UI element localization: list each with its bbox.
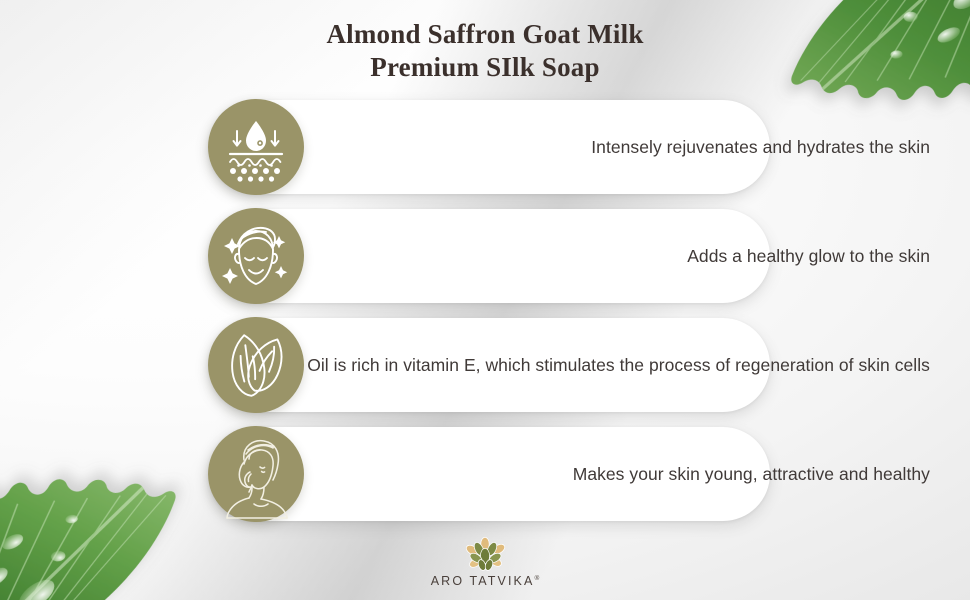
woman-portrait-icon (208, 426, 304, 522)
trademark-symbol: ® (534, 575, 539, 582)
benefit-badge (208, 100, 308, 194)
hydration-droplet-icon (208, 99, 304, 195)
page-title-line-1: Almond Saffron Goat Milk (0, 18, 970, 51)
benefit-badge (208, 427, 308, 521)
benefit-row-glow[interactable]: Adds a healthy glow to the skin (0, 209, 970, 303)
glowing-face-icon (208, 208, 304, 304)
leaf-rosette-logo-icon (458, 537, 512, 571)
benefit-badge (208, 318, 308, 412)
brand-name-text: ARO TATVIKA (431, 574, 535, 588)
benefit-badge (208, 209, 308, 303)
benefit-row-young-skin[interactable]: Makes your skin young, attractive and he… (0, 427, 970, 521)
page-title: Almond Saffron Goat Milk Premium SIlk So… (0, 18, 970, 84)
page-title-line-2: Premium SIlk Soap (0, 51, 970, 84)
infographic-canvas: Almond Saffron Goat Milk Premium SIlk So… (0, 0, 970, 600)
brand-name: ARO TATVIKA® (431, 574, 539, 588)
benefit-row-almond-oil[interactable]: Almond Oil is rich in vitamin E, which s… (0, 318, 970, 412)
benefit-row-hydration[interactable]: Intensely rejuvenates and hydrates the s… (0, 100, 970, 194)
almond-nuts-icon (208, 317, 304, 413)
brand-logo[interactable]: ARO TATVIKA® (0, 537, 970, 590)
benefits-list: Intensely rejuvenates and hydrates the s… (0, 100, 970, 536)
